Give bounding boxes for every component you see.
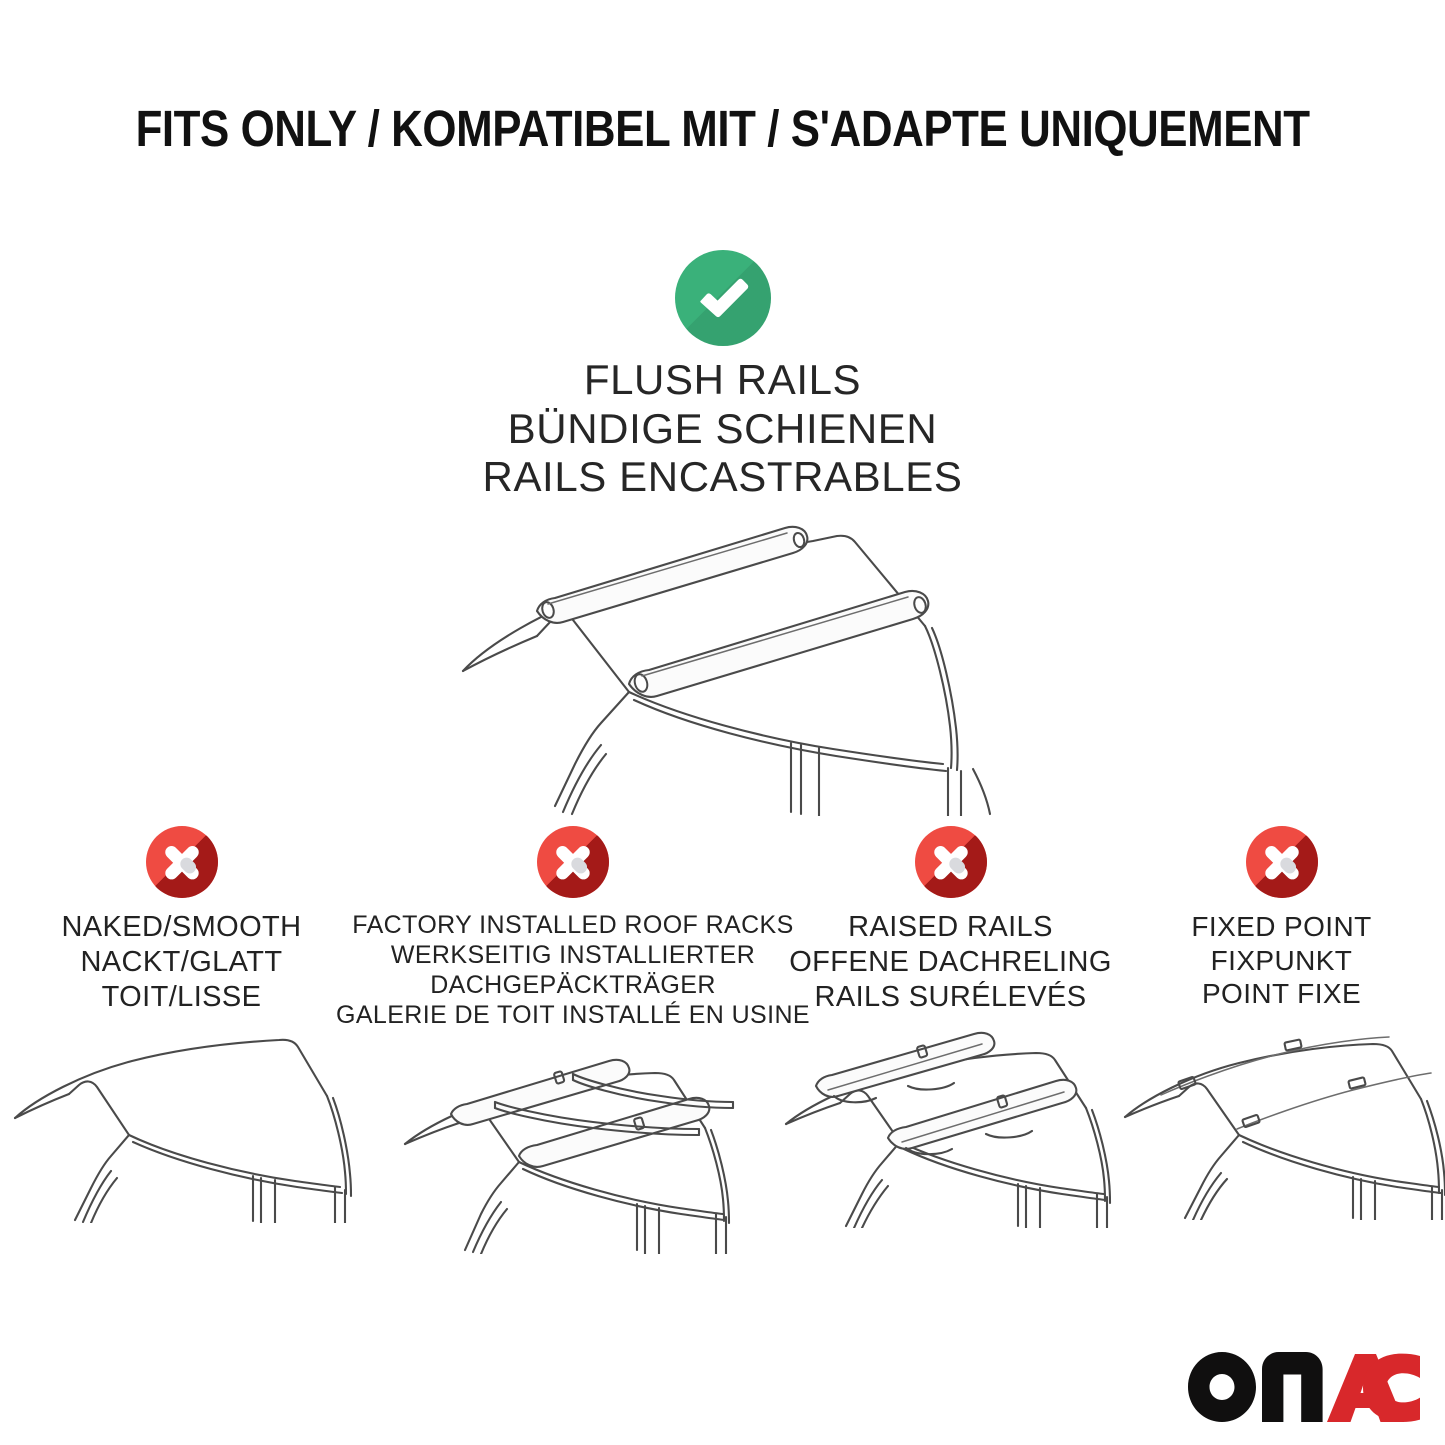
label-line-1: RAISED RAILS	[789, 910, 1112, 945]
label-line-2: OFFENE DACHRELING	[789, 945, 1112, 980]
label-line-2: FIXPUNKT	[1191, 944, 1371, 978]
incompatible-labels: FACTORY INSTALLED ROOF RACKS WERKSEITIG …	[336, 910, 810, 1030]
car-roof-raised-rails-illustration	[776, 1028, 1126, 1233]
x-circle-icon	[146, 826, 218, 898]
label-line-1: FIXED POINT	[1191, 910, 1371, 944]
label-line-1: NAKED/SMOOTH	[61, 910, 301, 945]
check-circle-icon	[675, 250, 771, 346]
incompatible-section: NAKED/SMOOTH NACKT/GLATT TOIT/LISSE	[0, 826, 1445, 1259]
compatible-label-de: BÜNDIGE SCHIENEN	[483, 405, 963, 454]
omac-logo	[1188, 1352, 1420, 1427]
page-title: FITS ONLY / KOMPATIBEL MIT / S'ADAPTE UN…	[135, 103, 1309, 154]
car-roof-factory-racks-illustration	[393, 1044, 753, 1259]
incompatible-labels: NAKED/SMOOTH NACKT/GLATT TOIT/LISSE	[61, 910, 301, 1014]
compatible-label-en: FLUSH RAILS	[483, 356, 963, 405]
car-roof-fixed-point-illustration	[1117, 1025, 1445, 1225]
label-line-3: RAILS SURÉLEVÉS	[789, 980, 1112, 1015]
incompatible-item-fixed-point: FIXED POINT FIXPUNKT POINT FIXE	[1118, 826, 1445, 1225]
x-circle-icon	[1246, 826, 1318, 898]
label-line-2: NACKT/GLATT	[61, 945, 301, 980]
label-line-3: POINT FIXE	[1191, 977, 1371, 1011]
label-line-2: WERKSEITIG INSTALLIERTER	[336, 940, 810, 970]
incompatible-labels: FIXED POINT FIXPUNKT POINT FIXE	[1191, 910, 1371, 1011]
page-title-bar: FITS ONLY / KOMPATIBEL MIT / S'ADAPTE UN…	[0, 103, 1445, 154]
label-line-3: DACHGEPÄCKTRÄGER	[336, 970, 810, 1000]
x-circle-icon	[537, 826, 609, 898]
label-line-1: FACTORY INSTALLED ROOF RACKS	[336, 910, 810, 940]
incompatible-item-naked-smooth: NAKED/SMOOTH NACKT/GLATT TOIT/LISSE	[0, 826, 363, 1228]
x-circle-icon	[915, 826, 987, 898]
incompatible-item-factory-racks: FACTORY INSTALLED ROOF RACKS WERKSEITIG …	[363, 826, 783, 1259]
compatible-section: FLUSH RAILS BÜNDIGE SCHIENEN RAILS ENCAS…	[0, 250, 1445, 821]
label-line-4: GALERIE DE TOIT INSTALLÉ EN USINE	[336, 1000, 810, 1030]
compatible-label-fr: RAILS ENCASTRABLES	[483, 453, 963, 502]
label-line-3: TOIT/LISSE	[61, 980, 301, 1015]
car-roof-naked-illustration	[7, 1028, 357, 1228]
compatible-labels: FLUSH RAILS BÜNDIGE SCHIENEN RAILS ENCAS…	[483, 356, 963, 502]
incompatible-labels: RAISED RAILS OFFENE DACHRELING RAILS SUR…	[789, 910, 1112, 1014]
car-roof-flush-rails-illustration	[433, 516, 1013, 821]
incompatible-item-raised-rails: RAISED RAILS OFFENE DACHRELING RAILS SUR…	[783, 826, 1118, 1233]
